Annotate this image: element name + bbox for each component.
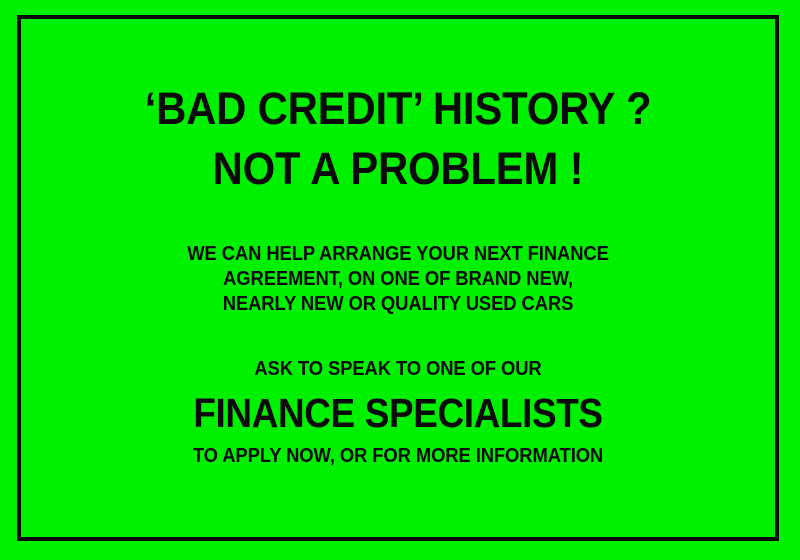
cta-prompt-text: ASK TO SPEAK TO ONE OF OUR — [47, 357, 748, 381]
headline-line-2: NOT A PROBLEM ! — [44, 141, 753, 196]
body-line-3: NEARLY NEW OR QUALITY USED CARS — [47, 292, 748, 317]
body-line-1: WE CAN HELP ARRANGE YOUR NEXT FINANCE — [47, 242, 748, 267]
advertisement-poster: ‘BAD CREDIT’ HISTORY ? NOT A PROBLEM ! W… — [0, 0, 800, 560]
headline-line-1: ‘BAD CREDIT’ HISTORY ? — [44, 81, 753, 136]
poster-content: ‘BAD CREDIT’ HISTORY ? NOT A PROBLEM ! W… — [17, 15, 779, 541]
headline-block: ‘BAD CREDIT’ HISTORY ? NOT A PROBLEM ! — [17, 81, 779, 196]
body-line-2: AGREEMENT, ON ONE OF BRAND NEW, — [47, 267, 748, 292]
cta-footer-text: TO APPLY NOW, OR FOR MORE INFORMATION — [47, 444, 748, 468]
call-to-action-block: ASK TO SPEAK TO ONE OF OUR FINANCE SPECI… — [17, 357, 779, 468]
body-text-block: WE CAN HELP ARRANGE YOUR NEXT FINANCE AG… — [17, 242, 779, 317]
cta-headline-text: FINANCE SPECIALISTS — [55, 388, 741, 438]
